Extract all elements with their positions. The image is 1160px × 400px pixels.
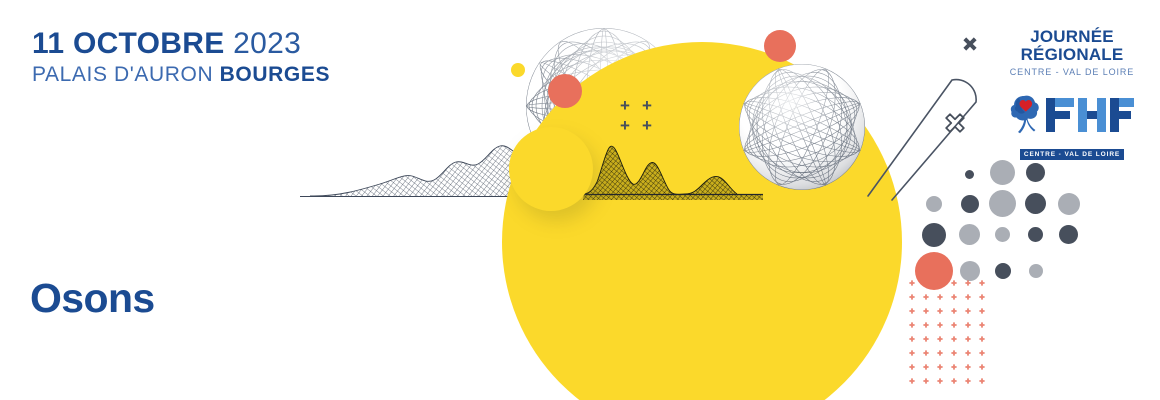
coral-plus-dot xyxy=(951,350,956,355)
dot-icon xyxy=(926,196,942,212)
event-banner: + + + + xyxy=(0,0,1160,400)
coral-plus-dot xyxy=(923,294,928,299)
coral-plus-dot xyxy=(937,322,942,327)
dot-icon xyxy=(990,160,1015,185)
dot-grid-cell xyxy=(915,160,953,190)
coral-plus-dot xyxy=(951,378,956,383)
dot-grid-cell xyxy=(953,190,986,222)
dot-grid-cell xyxy=(915,190,953,222)
dot-grid-cell xyxy=(1052,222,1085,252)
plus-icon: + xyxy=(620,96,642,116)
coral-plus-dot xyxy=(937,364,942,369)
plus-icon: + xyxy=(642,116,664,136)
event-date-line: 11 OCTOBRE 2023 xyxy=(32,28,330,60)
coral-plus-dot xyxy=(909,336,914,341)
dot-icon xyxy=(1058,193,1080,215)
coral-plus-dot xyxy=(909,308,914,313)
yellow-dot-small xyxy=(511,63,525,77)
coral-plus-dot xyxy=(965,308,970,313)
coral-plus-dot xyxy=(965,364,970,369)
coral-dot-on-sphere xyxy=(548,74,582,108)
coral-plus-dot xyxy=(951,364,956,369)
wireframe-terrain-small xyxy=(583,138,763,200)
dot-icon xyxy=(965,170,974,179)
coral-plus-dot xyxy=(937,336,942,341)
coral-plus-dot xyxy=(909,378,914,383)
dot-grid-cell xyxy=(1052,252,1085,295)
coral-plus-dot xyxy=(923,378,928,383)
dot-grid-cell xyxy=(986,160,1019,190)
coral-plus-dot xyxy=(923,308,928,313)
coral-plus-dot xyxy=(979,294,984,299)
dot-grid-cell xyxy=(1019,252,1052,295)
coral-plus-dot xyxy=(951,280,956,285)
dot-grid-cell xyxy=(1052,190,1085,222)
dot-grid-row xyxy=(915,160,1085,190)
dot-icon xyxy=(989,190,1016,217)
dot-icon xyxy=(1025,193,1046,214)
event-year: 2023 xyxy=(233,27,301,60)
coral-plus-dot xyxy=(965,350,970,355)
dot-icon xyxy=(995,263,1011,279)
dot-icon xyxy=(959,224,980,245)
coral-plus-dot xyxy=(965,378,970,383)
event-venue: PALAIS D'AURON xyxy=(32,63,213,86)
dot-grid-cell xyxy=(986,222,1019,252)
coral-plus-dot xyxy=(937,294,942,299)
coral-plus-dot xyxy=(909,350,914,355)
dot-icon xyxy=(961,195,979,213)
dot-grid-cell xyxy=(1052,160,1085,190)
dot-grid-cell xyxy=(1019,160,1052,190)
coral-plus-dot xyxy=(979,308,984,313)
dot-grid-cell xyxy=(1019,190,1052,222)
coral-plus-dot xyxy=(979,378,984,383)
coral-plus-dot xyxy=(923,364,928,369)
x-mark-hollow-icon xyxy=(944,112,966,134)
coral-plus-dot xyxy=(951,294,956,299)
coral-plus-dot xyxy=(923,322,928,327)
fhf-mark-icon xyxy=(1008,90,1136,142)
coral-plus-dot xyxy=(923,350,928,355)
coral-plus-dot xyxy=(979,364,984,369)
journee-title-line2: RÉGIONALE xyxy=(1008,46,1136,64)
dot-grid xyxy=(915,160,1085,295)
coral-plus-dot xyxy=(937,308,942,313)
plus-signs-group: + + + + xyxy=(620,96,664,136)
tree-icon xyxy=(1011,96,1039,134)
coral-plus-dot xyxy=(965,280,970,285)
logo-block: JOURNÉE RÉGIONALE CENTRE - VAL DE LOIRE xyxy=(1008,28,1136,160)
journee-subtitle: CENTRE - VAL DE LOIRE xyxy=(1008,67,1136,77)
dot-grid-cell xyxy=(986,190,1019,222)
coral-plus-dot xyxy=(923,280,928,285)
event-date-block: 11 OCTOBRE 2023 PALAIS D'AURON BOURGES xyxy=(32,28,330,89)
coral-plus-dot xyxy=(965,294,970,299)
coral-plus-dot xyxy=(951,336,956,341)
coral-plus-dot xyxy=(923,336,928,341)
dot-grid-cell xyxy=(953,222,986,252)
coral-plus-dot xyxy=(937,350,942,355)
dot-grid-row xyxy=(915,222,1085,252)
dot-icon xyxy=(1026,163,1045,182)
fhf-band-label: CENTRE - VAL DE LOIRE xyxy=(1020,149,1124,160)
event-day-month: 11 OCTOBRE xyxy=(32,27,225,60)
event-city: BOURGES xyxy=(220,63,330,86)
x-mark-solid-icon xyxy=(962,36,978,52)
coral-plus-dot xyxy=(909,364,914,369)
fhf-letters-icon xyxy=(1046,98,1134,132)
dot-icon xyxy=(922,223,946,247)
coral-plus-dot xyxy=(937,378,942,383)
dot-icon xyxy=(1059,225,1078,244)
coral-plus-dot xyxy=(909,294,914,299)
dot-grid-row xyxy=(915,190,1085,222)
headline-line-1: Osons xyxy=(30,275,524,321)
coral-plus-dot xyxy=(909,322,914,327)
coral-plus-dot xyxy=(951,308,956,313)
dot-icon xyxy=(1028,227,1043,242)
journee-title-line1: JOURNÉE xyxy=(1008,28,1136,46)
fhf-logo: CENTRE - VAL DE LOIRE xyxy=(1008,90,1136,160)
dot-icon xyxy=(995,227,1010,242)
coral-plus-grid xyxy=(908,278,998,394)
coral-dot-top xyxy=(764,30,796,62)
coral-plus-dot xyxy=(965,336,970,341)
plus-icon: + xyxy=(620,116,642,136)
page-title: Osons un management innovant, source d’a… xyxy=(30,183,524,400)
coral-plus-dot xyxy=(965,322,970,327)
dot-grid-cell xyxy=(1019,222,1052,252)
coral-plus-dot xyxy=(951,322,956,327)
coral-plus-dot xyxy=(937,280,942,285)
coral-plus-dot xyxy=(979,322,984,327)
coral-plus-dot xyxy=(909,280,914,285)
dot-icon xyxy=(1029,264,1043,278)
coral-plus-dot xyxy=(979,350,984,355)
coral-plus-dot xyxy=(979,336,984,341)
event-venue-line: PALAIS D'AURON BOURGES xyxy=(32,62,330,88)
dot-grid-cell xyxy=(953,160,986,190)
dot-grid-cell xyxy=(915,222,953,252)
coral-plus-dot xyxy=(979,280,984,285)
plus-icon: + xyxy=(642,96,664,116)
